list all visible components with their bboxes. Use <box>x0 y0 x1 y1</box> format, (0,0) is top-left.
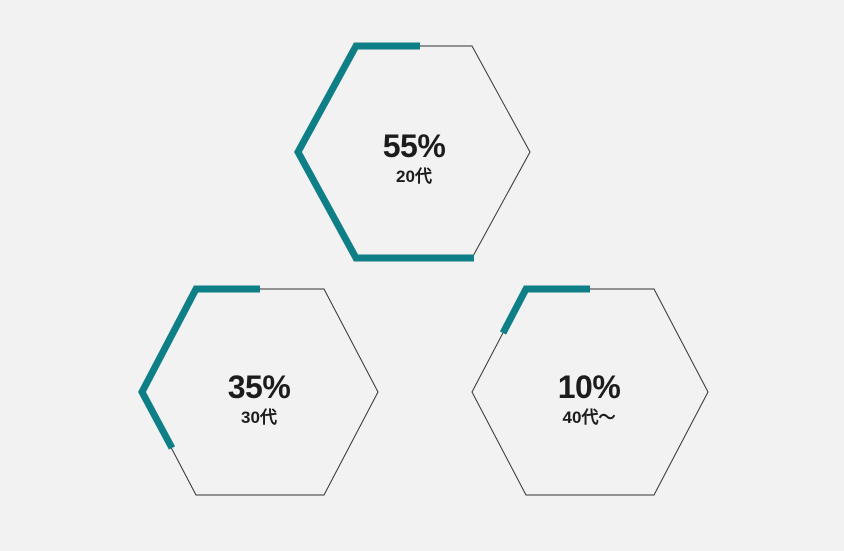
hexagon-40s-graphic <box>460 278 718 506</box>
hexagon-card-40s[interactable]: 10% 40代〜 <box>460 278 718 506</box>
hexagon-card-20s[interactable]: 55% 20代 <box>288 36 540 268</box>
hexagon-progress-arc <box>503 289 590 333</box>
hexagon-progress-arc <box>142 289 260 448</box>
hexagon-outline <box>298 46 530 258</box>
hexagon-gauge-chart: 55% 20代 35% 30代 10% 40代〜 <box>0 0 844 551</box>
hexagon-20s-graphic <box>288 36 540 268</box>
hexagon-card-30s[interactable]: 35% 30代 <box>130 278 388 506</box>
hexagon-30s-graphic <box>130 278 388 506</box>
hexagon-progress-arc <box>298 46 474 258</box>
